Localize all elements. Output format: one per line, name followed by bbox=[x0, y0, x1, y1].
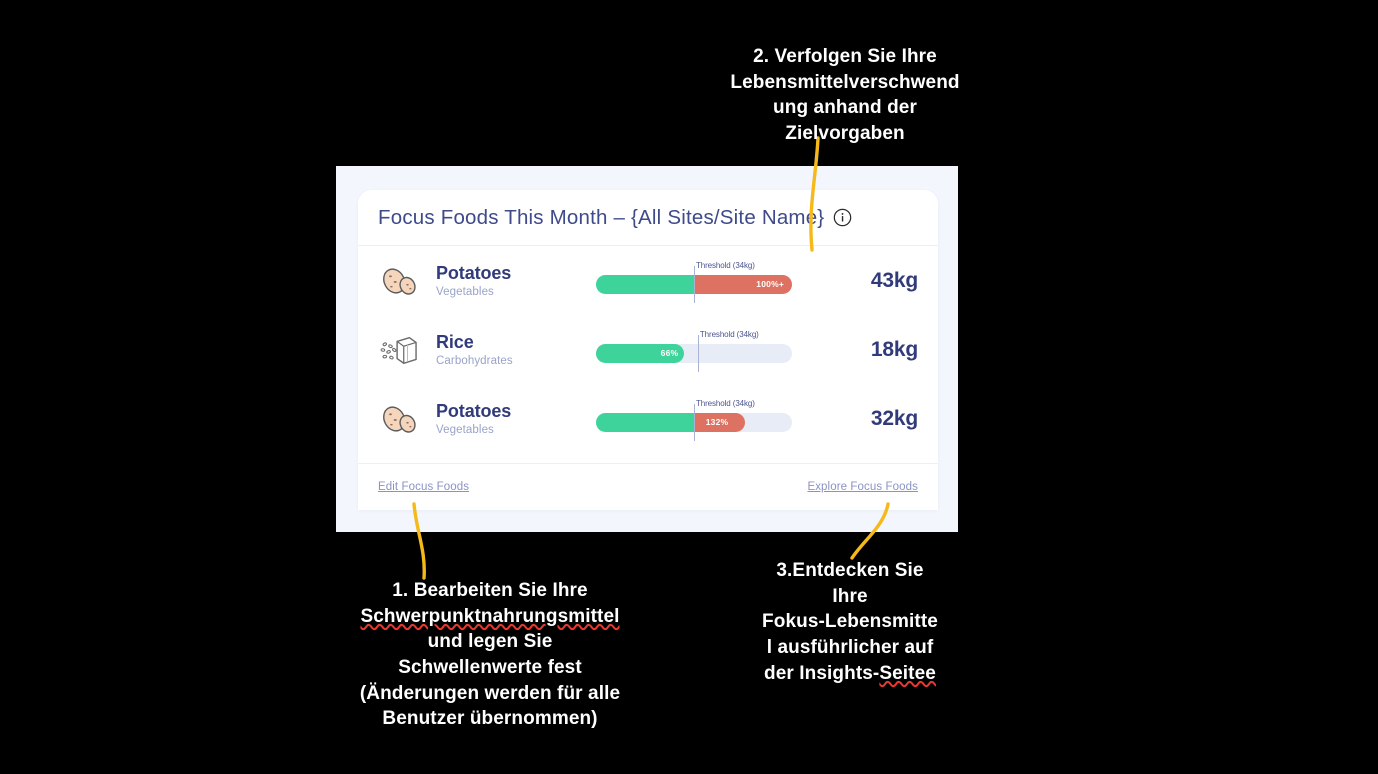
food-weight: 32kg bbox=[871, 407, 918, 431]
page-title: Focus Foods This Month – {All Sites/Site… bbox=[378, 206, 824, 230]
food-name: Potatoes bbox=[436, 263, 596, 283]
annotation-2-line-3: ung anhand der bbox=[700, 95, 990, 121]
annotation-2-line-4: Zielvorgaben bbox=[700, 121, 990, 147]
food-category: Carbohydrates bbox=[436, 355, 596, 367]
food-weight: 18kg bbox=[871, 338, 918, 362]
card-header: Focus Foods This Month – {All Sites/Site… bbox=[358, 190, 938, 246]
meter-percent-label: 66% bbox=[661, 344, 679, 363]
meter-green-fill bbox=[596, 413, 694, 432]
annotation-2-line-1: 2. Verfolgen Sie Ihre bbox=[700, 44, 990, 70]
info-circle-icon[interactable] bbox=[833, 208, 852, 227]
threshold-tick bbox=[698, 335, 699, 372]
meter-green-fill bbox=[596, 275, 694, 294]
card-footer: Edit Focus Foods Explore Focus Foods bbox=[358, 463, 938, 510]
food-name-group: Potatoes Vegetables bbox=[436, 263, 596, 297]
annotation-step-3: 3.Entdecken Sie Ihre Fokus-Lebensmitte l… bbox=[742, 558, 958, 686]
threshold-label: Threshold (34kg) bbox=[700, 330, 759, 339]
threshold-label: Threshold (34kg) bbox=[696, 261, 755, 270]
annotation-1-line-5: (Änderungen werden für alle bbox=[330, 681, 650, 707]
annotation-3-line-5: der Insights-Seitee bbox=[742, 661, 958, 687]
annotation-3-line-5-text: der Insights- bbox=[764, 663, 879, 684]
edit-focus-foods-link[interactable]: Edit Focus Foods bbox=[378, 481, 469, 493]
food-name-group: Potatoes Vegetables bbox=[436, 401, 596, 435]
explore-focus-foods-link[interactable]: Explore Focus Foods bbox=[807, 481, 918, 493]
food-category: Vegetables bbox=[436, 286, 596, 298]
annotation-step-1: 1. Bearbeiten Sie Ihre Schwerpunktnahrun… bbox=[330, 578, 650, 732]
annotation-step-2: 2. Verfolgen Sie Ihre Lebensmittelversch… bbox=[700, 44, 990, 147]
annotation-3-misspelled-word: Seitee bbox=[879, 663, 936, 684]
progress-meter: 132% Threshold (34kg) bbox=[596, 396, 792, 442]
annotation-3-line-2: Ihre bbox=[742, 584, 958, 610]
progress-meter: 66% Threshold (34kg) bbox=[596, 327, 792, 373]
focus-foods-card: Focus Foods This Month – {All Sites/Site… bbox=[358, 190, 938, 510]
progress-meter: 100%+ Threshold (34kg) bbox=[596, 258, 792, 304]
annotation-1-line-3: und legen Sie bbox=[330, 629, 650, 655]
meter-percent-label: 132% bbox=[706, 413, 729, 432]
annotation-2-line-2: Lebensmittelverschwend bbox=[700, 70, 990, 96]
threshold-tick bbox=[694, 404, 695, 441]
annotation-1-line-1: 1. Bearbeiten Sie Ihre bbox=[330, 578, 650, 604]
focus-foods-list: Potatoes Vegetables 100%+ Threshold (34k… bbox=[358, 246, 938, 453]
table-row[interactable]: Potatoes Vegetables 100%+ Threshold (34k… bbox=[358, 246, 938, 315]
food-name: Potatoes bbox=[436, 401, 596, 421]
food-name-group: Rice Carbohydrates bbox=[436, 332, 596, 366]
threshold-label: Threshold (34kg) bbox=[696, 399, 755, 408]
rice-icon bbox=[378, 332, 420, 368]
annotation-3-line-1: 3.Entdecken Sie bbox=[742, 558, 958, 584]
meter-track: 66% bbox=[596, 344, 792, 363]
annotation-1-line-4: Schwellenwerte fest bbox=[330, 655, 650, 681]
threshold-tick bbox=[694, 266, 695, 303]
annotation-3-line-3: Fokus-Lebensmitte bbox=[742, 609, 958, 635]
potato-icon bbox=[378, 263, 420, 299]
table-row[interactable]: Rice Carbohydrates 66% Threshold (34kg) … bbox=[358, 315, 938, 384]
annotation-1-line-6: Benutzer übernommen) bbox=[330, 706, 650, 732]
food-category: Vegetables bbox=[436, 424, 596, 436]
potato-icon bbox=[378, 401, 420, 437]
food-name: Rice bbox=[436, 332, 596, 352]
table-row[interactable]: Potatoes Vegetables 132% Threshold (34kg… bbox=[358, 384, 938, 453]
annotation-3-line-4: l ausführlicher auf bbox=[742, 635, 958, 661]
meter-percent-label: 100%+ bbox=[756, 275, 784, 294]
annotation-1-misspelled-word: Schwerpunktnahrungsmittel bbox=[330, 604, 650, 630]
food-weight: 43kg bbox=[871, 269, 918, 293]
